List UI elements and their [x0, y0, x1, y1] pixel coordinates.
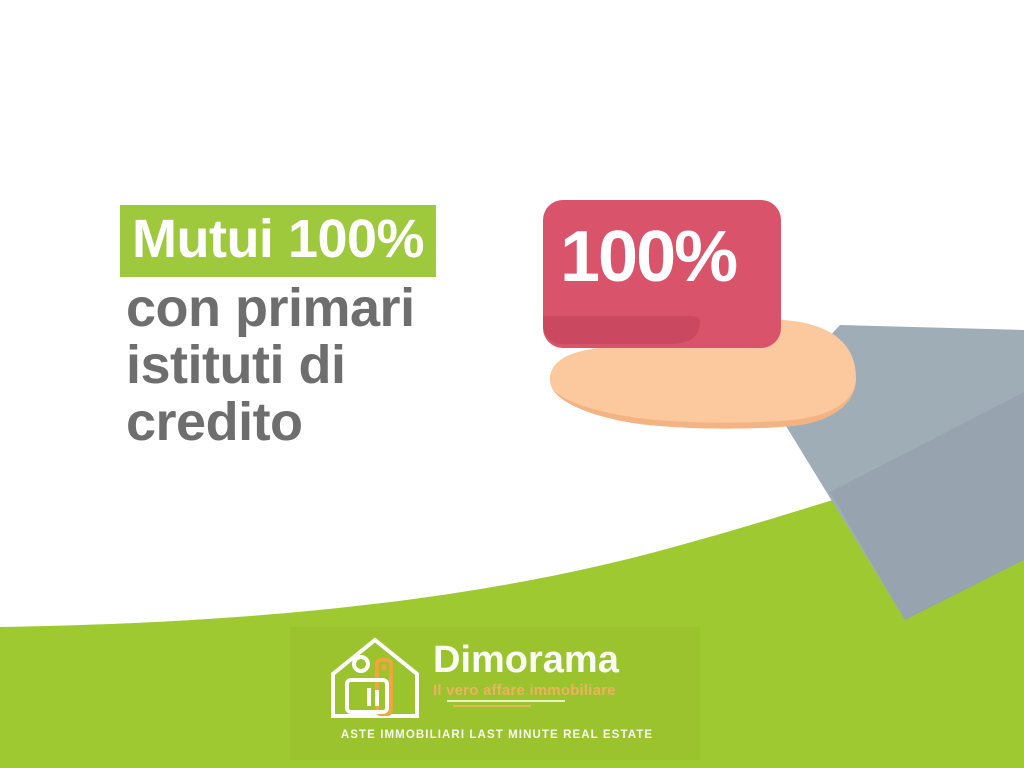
promo-banner: Mutui 100% con primari istituti di credi… — [0, 0, 1024, 768]
logo[interactable]: Dimorama Il vero affare immobiliare — [325, 634, 670, 720]
headline-line-highlight: Mutui 100% — [120, 205, 436, 277]
headline-block: Mutui 100% con primari istituti di credi… — [126, 205, 546, 451]
hand-shape — [550, 319, 856, 429]
logo-subtitle: ASTE IMMOBILIARI LAST MINUTE REAL ESTATE — [322, 729, 672, 741]
logo-wordmark: Dimorama Il vero affare immobiliare — [433, 640, 673, 700]
logo-rule-orange — [453, 705, 531, 707]
logo-tagline: Il vero affare immobiliare — [433, 682, 673, 700]
sleeve-button — [806, 396, 830, 420]
dimorama-house-icon — [325, 634, 425, 720]
logo-rule-white — [447, 700, 565, 702]
headline-line-2: con primari — [126, 280, 546, 337]
logo-name: Dimorama — [433, 640, 673, 680]
percent-card-label: 100% — [560, 216, 770, 298]
headline-line-4: credito — [126, 394, 546, 451]
sleeve-shape — [770, 325, 1024, 620]
headline-line-3: istituti di — [126, 337, 546, 394]
